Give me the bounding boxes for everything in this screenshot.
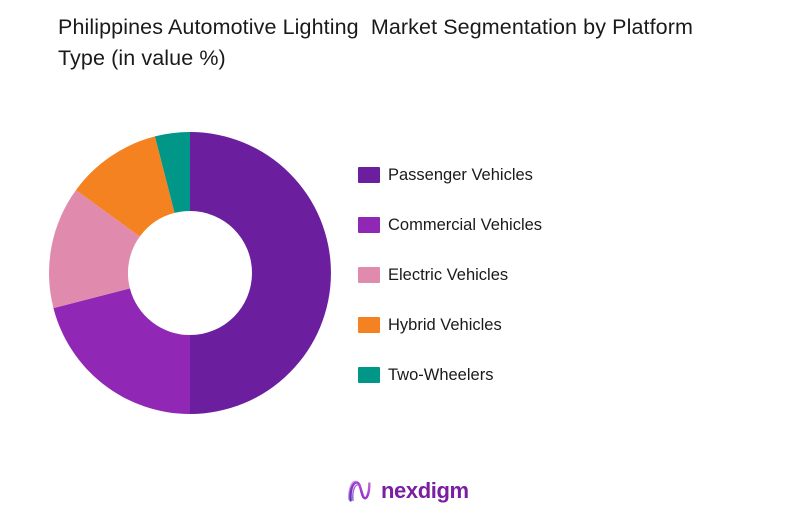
- legend-item-label: Electric Vehicles: [388, 264, 508, 286]
- donut-slice-group: [49, 132, 331, 414]
- donut-slice[interactable]: [53, 288, 190, 414]
- nexdigm-wave-n-icon: [345, 476, 375, 506]
- page-title: Philippines Automotive Lighting Market S…: [58, 12, 718, 74]
- brand-logo: nexdigm: [345, 474, 469, 508]
- donut-slice[interactable]: [190, 132, 331, 414]
- legend-swatch-icon: [358, 267, 380, 283]
- legend-item-electric-vehicles[interactable]: Electric Vehicles: [358, 263, 658, 287]
- chart-legend: Passenger Vehicles Commercial Vehicles E…: [358, 163, 658, 413]
- legend-item-passenger-vehicles[interactable]: Passenger Vehicles: [358, 163, 658, 187]
- legend-item-label: Commercial Vehicles: [388, 214, 542, 236]
- legend-item-label: Two-Wheelers: [388, 364, 493, 386]
- legend-swatch-icon: [358, 367, 380, 383]
- legend-swatch-icon: [358, 217, 380, 233]
- chart-page: Philippines Automotive Lighting Market S…: [0, 0, 804, 517]
- legend-swatch-icon: [358, 167, 380, 183]
- brand-name: nexdigm: [381, 478, 469, 504]
- legend-swatch-icon: [358, 317, 380, 333]
- donut-chart: [49, 132, 331, 414]
- legend-item-two-wheelers[interactable]: Two-Wheelers: [358, 363, 658, 387]
- legend-item-label: Passenger Vehicles: [388, 164, 533, 186]
- donut-chart-svg: [49, 132, 331, 414]
- legend-item-hybrid-vehicles[interactable]: Hybrid Vehicles: [358, 313, 658, 337]
- legend-item-label: Hybrid Vehicles: [388, 314, 502, 336]
- legend-item-commercial-vehicles[interactable]: Commercial Vehicles: [358, 213, 658, 237]
